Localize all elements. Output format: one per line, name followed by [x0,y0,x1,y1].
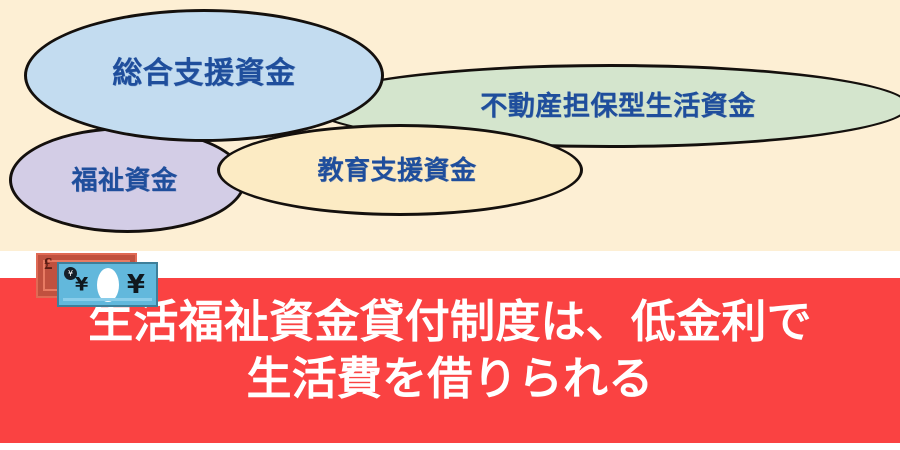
banknote-portrait-oval [97,268,119,302]
bubble-fukushi-shikin: 福祉資金 [9,127,246,233]
infographic-canvas: 総合支援資金 不動産担保型生活資金 福祉資金 教育支援資金 生活福祉資金貸付制度… [0,0,900,450]
yen-symbol-left-icon: ¥ [75,275,88,294]
loan-categories-panel: 総合支援資金 不動産担保型生活資金 福祉資金 教育支援資金 [0,0,900,251]
bottom-white-strip [0,443,900,450]
bubble-sogo-shien-shikin: 総合支援資金 [24,9,384,142]
pound-symbol-icon: £ [44,255,53,272]
bubble-label-kyoiku-shien-shikin: 教育支援資金 [317,157,476,183]
yen-symbol-right-icon: ¥ [127,272,145,298]
bubble-label-fukushi-shikin: 福祉資金 [71,167,177,193]
banknote-front-stripe [63,298,152,301]
bubble-kyoiku-shien-shikin: 教育支援資金 [217,124,583,216]
bubble-label-sogo-shien-shikin: 総合支援資金 [112,59,296,89]
banknotes-icon: £ ¥ ¥ ¥ [33,251,163,311]
bubble-label-fudosan-tanpogata-seikatsu-shikin: 不動産担保型生活資金 [480,93,755,120]
banner-headline-line-2: 生活費を借りられる [0,351,900,408]
banknote-front: ¥ ¥ ¥ [57,262,158,307]
banner-headline: 生活福祉資金貸付制度は、低金利で 生活費を借りられる [0,294,900,407]
